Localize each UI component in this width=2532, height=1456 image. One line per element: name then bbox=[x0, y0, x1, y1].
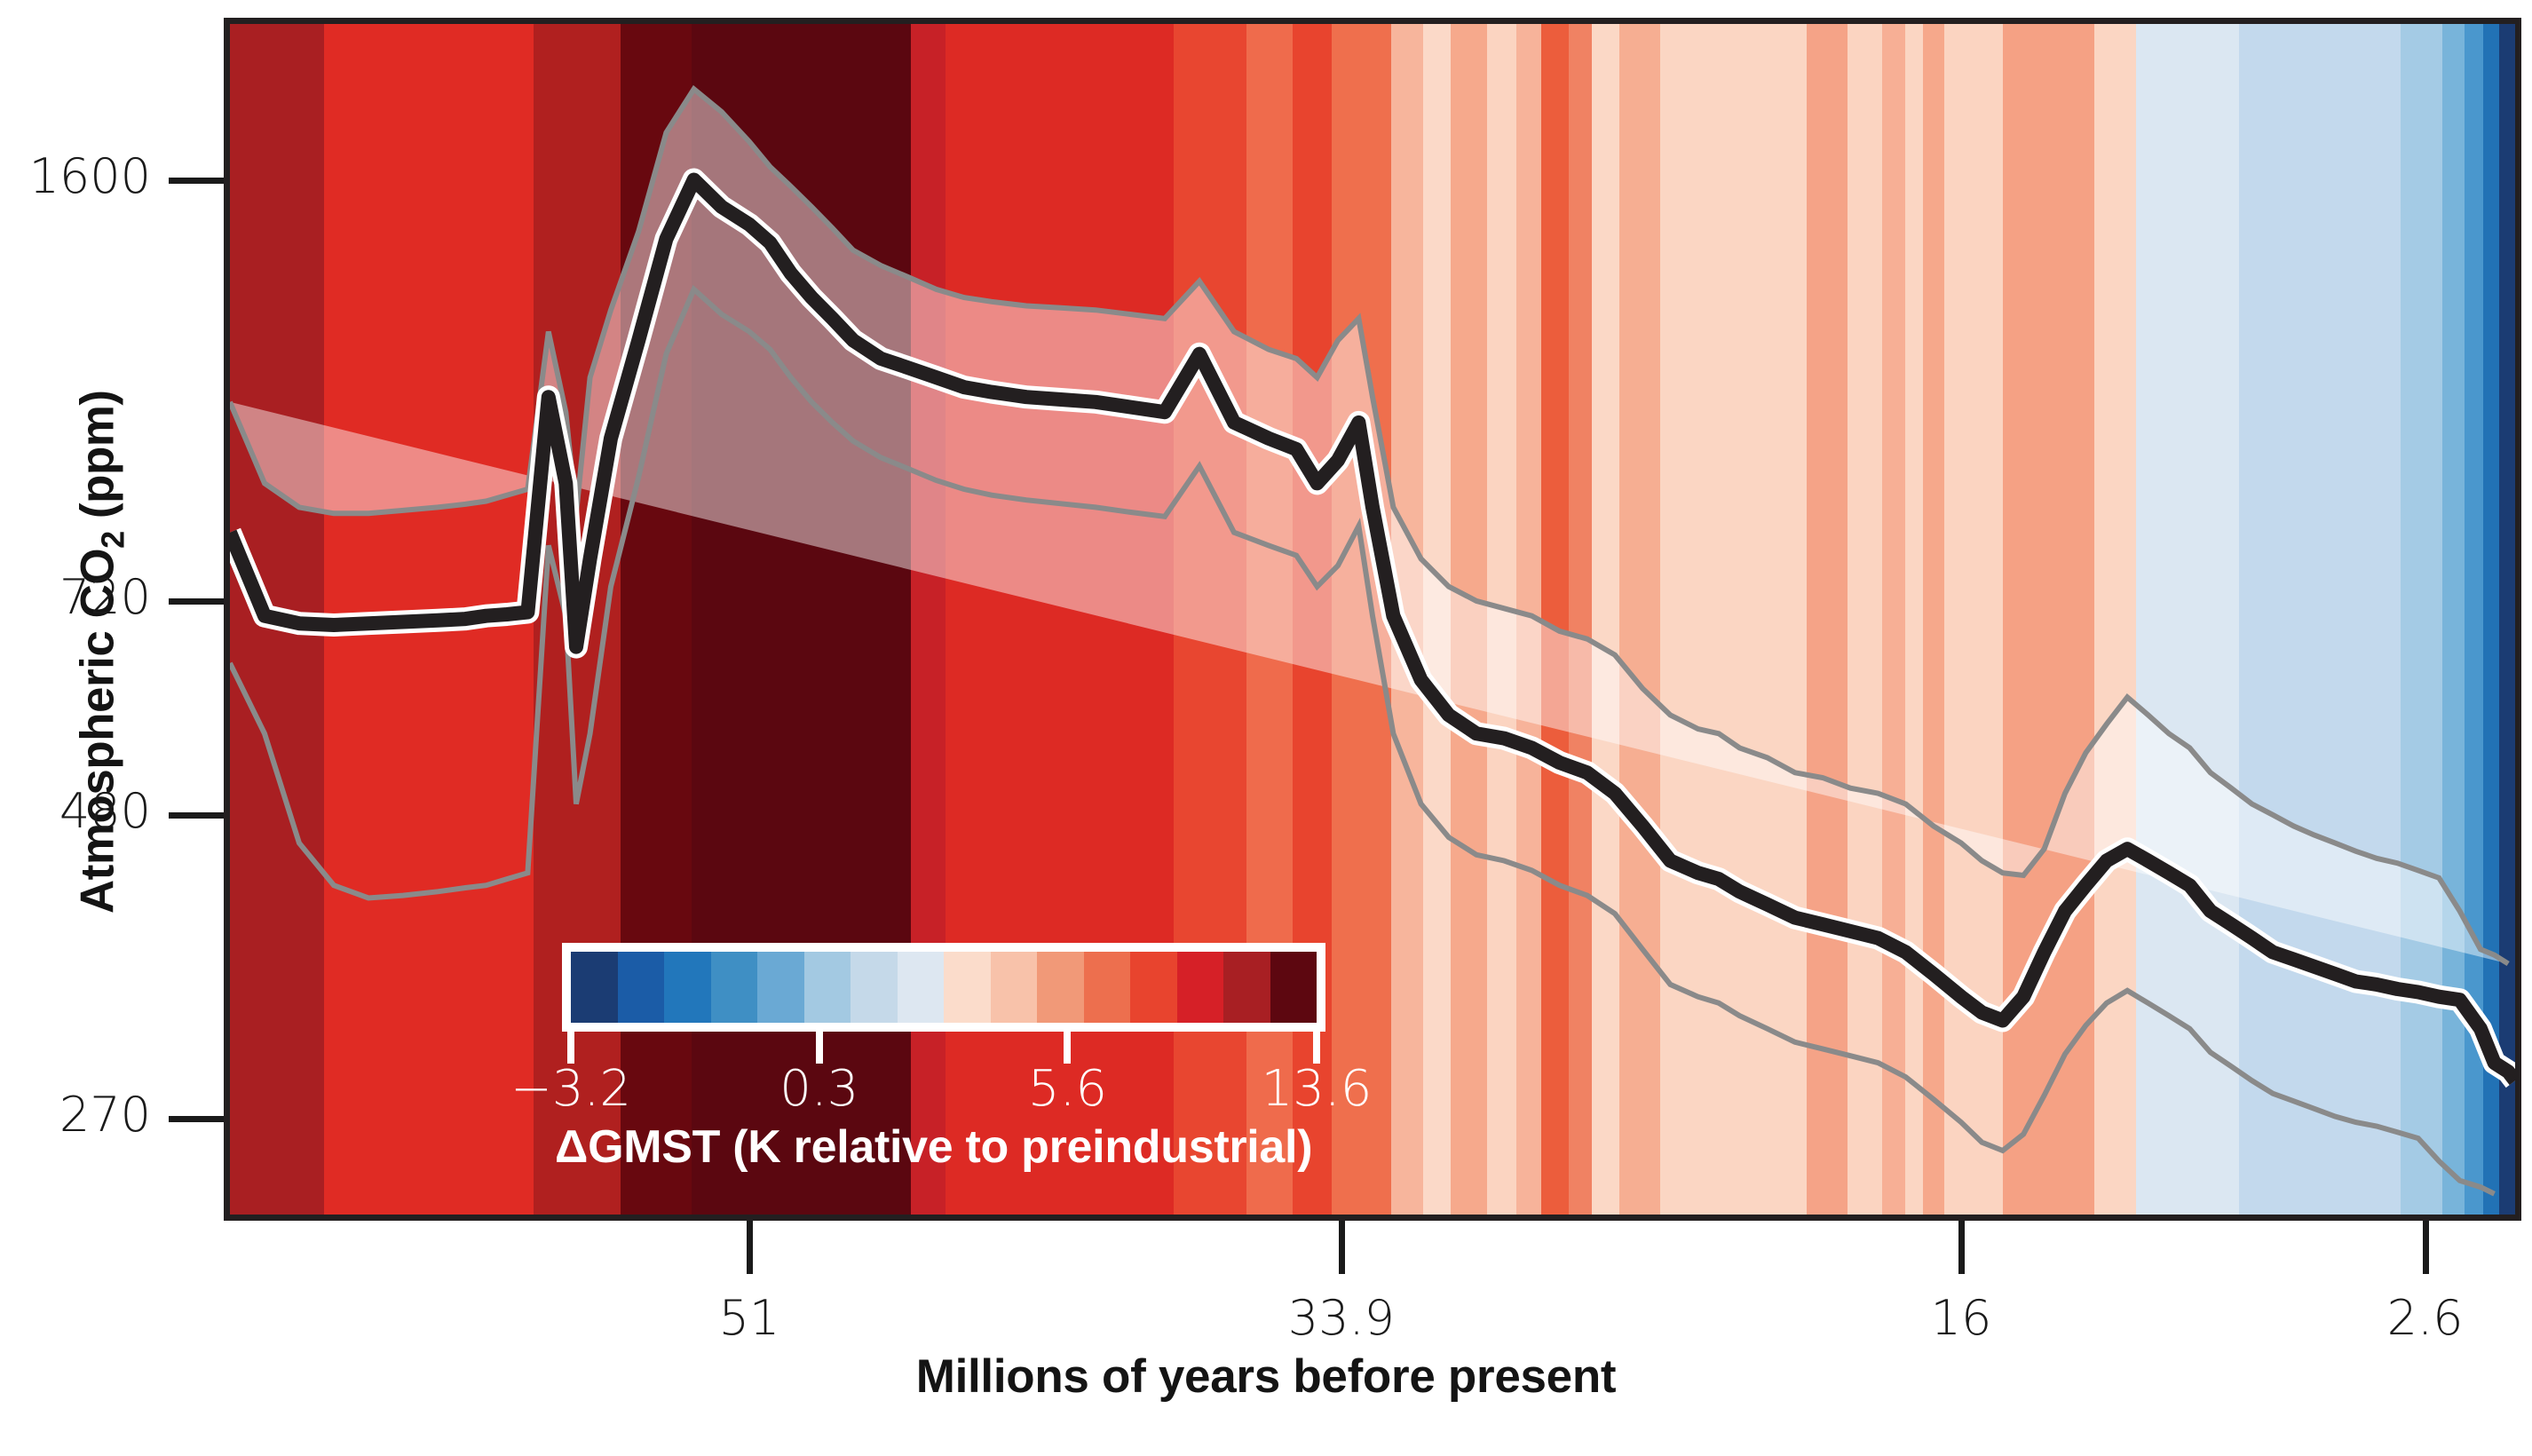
colorbar-tick bbox=[1064, 1032, 1071, 1064]
x-axis-tick bbox=[747, 1221, 753, 1274]
y-axis-tick bbox=[169, 1116, 224, 1122]
colorbar-swatch bbox=[1037, 952, 1085, 1023]
colorbar-tick bbox=[567, 1032, 574, 1064]
x-axis-title: Millions of years before present bbox=[0, 1349, 2532, 1404]
colorbar-swatch bbox=[757, 952, 805, 1023]
x-axis-tick-label: 2.6 bbox=[2292, 1290, 2532, 1346]
x-axis-tick-label: 16 bbox=[1828, 1290, 2094, 1346]
colorbar-swatch bbox=[1130, 952, 1178, 1023]
colorbar-tick-label: 13.6 bbox=[1210, 1060, 1423, 1118]
colorbar-swatch bbox=[851, 952, 898, 1023]
colorbar-box bbox=[562, 943, 1325, 1032]
colorbar-tick bbox=[1313, 1032, 1320, 1064]
y-axis-title-subscript: 2 bbox=[94, 531, 131, 549]
y-axis-tick bbox=[169, 178, 224, 184]
y-axis-tick bbox=[169, 598, 224, 605]
x-axis-tick bbox=[2423, 1221, 2429, 1274]
colorbar-tick-label: 0.3 bbox=[713, 1060, 926, 1118]
colorbar-swatch bbox=[1270, 952, 1317, 1023]
colorbar-swatch bbox=[664, 952, 712, 1023]
x-axis-tick bbox=[1339, 1221, 1345, 1274]
y-axis-tick-label: 480 bbox=[0, 783, 151, 839]
y-axis-title: Atmospheric CO2 (ppm) bbox=[71, 314, 132, 989]
colorbar-tick bbox=[816, 1032, 823, 1064]
chart-figure: Atmospheric CO2 (ppm) 1600720480270 5133… bbox=[0, 0, 2532, 1456]
colorbar-tick-label: 5.6 bbox=[961, 1060, 1174, 1118]
colorbar-swatch bbox=[571, 952, 619, 1023]
y-axis-tick-label: 270 bbox=[0, 1087, 151, 1143]
colorbar-swatch bbox=[618, 952, 666, 1023]
y-axis-tick bbox=[169, 812, 224, 819]
colorbar-swatch bbox=[1223, 952, 1271, 1023]
y-axis-tick-label: 720 bbox=[0, 569, 151, 625]
colorbar-legend: −3.20.35.613.6 ΔGMST (K relative to prei… bbox=[562, 943, 1325, 1032]
colorbar-tick-label: −3.2 bbox=[464, 1060, 677, 1118]
y-axis-tick-label: 1600 bbox=[0, 148, 151, 204]
colorbar-swatch bbox=[711, 952, 759, 1023]
x-axis-tick-label: 51 bbox=[616, 1290, 882, 1346]
colorbar-swatch bbox=[1084, 952, 1132, 1023]
colorbar-swatch bbox=[1177, 952, 1225, 1023]
colorbar-swatches bbox=[571, 952, 1317, 1023]
colorbar-swatch bbox=[898, 952, 946, 1023]
x-axis-tick bbox=[1958, 1221, 1965, 1274]
colorbar-swatch bbox=[991, 952, 1039, 1023]
y-axis-title-suffix: (ppm) bbox=[72, 390, 124, 531]
plot-area: −3.20.35.613.6 ΔGMST (K relative to prei… bbox=[224, 18, 2521, 1221]
colorbar-caption: ΔGMST (K relative to preindustrial) bbox=[555, 1120, 1312, 1174]
colorbar-swatch bbox=[944, 952, 992, 1023]
colorbar-swatch bbox=[804, 952, 852, 1023]
x-axis-tick-label: 33.9 bbox=[1208, 1290, 1475, 1346]
